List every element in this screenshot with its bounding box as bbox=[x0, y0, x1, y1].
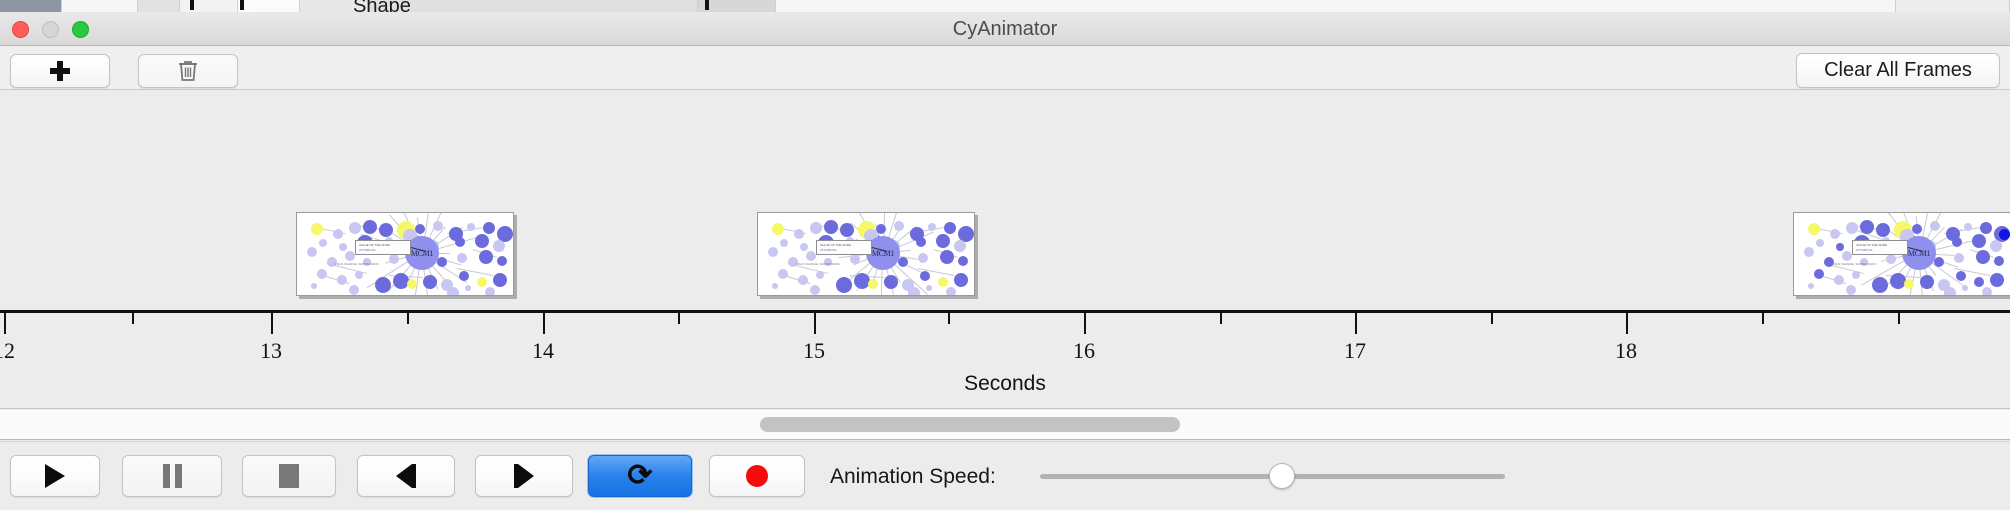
axis-tick bbox=[1220, 313, 1222, 324]
timeline-scrollbar-thumb[interactable] bbox=[760, 417, 1180, 432]
clear-all-frames-label: Clear All Frames bbox=[1824, 59, 1972, 82]
graph-caption: FOLD CHANGE / EXPRESSION bbox=[335, 262, 379, 266]
pause-icon bbox=[163, 464, 182, 488]
axis-tick-label: 13 bbox=[260, 338, 282, 364]
graph-node bbox=[810, 222, 822, 234]
graph-node bbox=[339, 243, 347, 251]
graph-node bbox=[319, 239, 327, 247]
graph-tooltip: VALUE OF THE NODEATTRIBUTE bbox=[1852, 240, 1908, 255]
graph-node bbox=[389, 254, 399, 264]
axis-tick bbox=[271, 313, 273, 334]
axis-tick bbox=[4, 313, 6, 334]
graph-node bbox=[1990, 240, 2002, 252]
graph-node bbox=[1814, 269, 1824, 279]
graph-caption: FOLD CHANGE / EXPRESSION bbox=[1832, 262, 1876, 266]
graph-node bbox=[493, 273, 507, 287]
axis-title: Seconds bbox=[0, 372, 2010, 396]
graph-node bbox=[944, 222, 956, 234]
graph-node bbox=[824, 220, 838, 234]
graph-tooltip-line-2: ATTRIBUTE bbox=[820, 248, 868, 253]
graph-node bbox=[1962, 285, 1968, 291]
previous-frame-button[interactable] bbox=[357, 455, 455, 497]
timeline-scrollbar[interactable] bbox=[0, 410, 2010, 440]
delete-frame-button[interactable] bbox=[138, 54, 238, 88]
loop-icon: ⟳ bbox=[627, 461, 652, 491]
axis-tick-label: 12 bbox=[0, 338, 15, 364]
clear-all-frames-button[interactable]: Clear All Frames bbox=[1796, 53, 2000, 88]
graph-node bbox=[1956, 271, 1966, 281]
graph-node bbox=[465, 285, 471, 291]
graph-node bbox=[1999, 229, 2010, 240]
graph-node bbox=[485, 287, 495, 296]
graph-node bbox=[798, 275, 808, 285]
graph-node bbox=[1846, 285, 1856, 295]
graph-node bbox=[1852, 271, 1860, 279]
graph-node bbox=[1804, 247, 1814, 257]
graph-node bbox=[940, 250, 954, 264]
axis-tick-label: 16 bbox=[1073, 338, 1095, 364]
add-frame-button[interactable] bbox=[10, 54, 110, 88]
graph-node bbox=[363, 220, 377, 234]
graph-node bbox=[1972, 234, 1986, 248]
graph-node bbox=[816, 271, 824, 279]
graph-node bbox=[497, 256, 507, 266]
timeline-panel[interactable]: MCM1VALUE OF THE NODEATTRIBUTEFOLD CHANG… bbox=[0, 90, 2010, 409]
graph-node bbox=[1808, 223, 1820, 235]
graph-node bbox=[908, 287, 920, 296]
graph-node bbox=[840, 223, 854, 237]
graph-node bbox=[1846, 222, 1858, 234]
graph-node bbox=[894, 221, 904, 231]
cyanimator-window: Shape CyAnimator Clear All Frames MC bbox=[0, 0, 2010, 510]
graph-node bbox=[946, 287, 956, 296]
axis-tick bbox=[1762, 313, 1764, 324]
axis-line bbox=[0, 310, 2010, 313]
graph-node bbox=[794, 229, 804, 239]
graph-node bbox=[1982, 287, 1992, 296]
graph-node bbox=[954, 240, 966, 252]
graph-node bbox=[433, 221, 443, 231]
graph-node bbox=[920, 271, 930, 281]
graph-node bbox=[800, 243, 808, 251]
graph-tooltip-line-2: ATTRIBUTE bbox=[359, 248, 407, 253]
graph-node bbox=[1830, 229, 1840, 239]
graph-node bbox=[926, 285, 932, 291]
window-title: CyAnimator bbox=[0, 12, 2010, 46]
play-icon bbox=[45, 464, 65, 488]
graph-node bbox=[780, 239, 788, 247]
graph-node bbox=[916, 237, 926, 247]
animation-speed-slider[interactable] bbox=[1040, 474, 1505, 479]
graph-node bbox=[898, 257, 908, 267]
graph-node bbox=[928, 223, 936, 231]
graph-node bbox=[479, 250, 493, 264]
graph-node bbox=[375, 277, 391, 293]
graph-node bbox=[333, 229, 343, 239]
graph-node bbox=[337, 275, 347, 285]
graph-node bbox=[1980, 222, 1992, 234]
axis-tick bbox=[1898, 313, 1900, 324]
graph-node bbox=[311, 283, 317, 289]
graph-node bbox=[457, 253, 467, 263]
graph-node bbox=[1976, 250, 1990, 264]
graph-node bbox=[1808, 283, 1814, 289]
graph-node bbox=[954, 273, 968, 287]
graph-node bbox=[477, 277, 487, 287]
graph-node bbox=[772, 283, 778, 289]
titlebar: CyAnimator bbox=[0, 12, 2010, 46]
skip-back-icon bbox=[396, 464, 416, 488]
stop-button[interactable] bbox=[242, 455, 336, 497]
graph-node bbox=[455, 237, 465, 247]
background-window-strip: Shape bbox=[0, 0, 2010, 12]
graph-node bbox=[1954, 253, 1964, 263]
frame-thumbnail[interactable]: MCM1VALUE OF THE NODEATTRIBUTEFOLD CHANG… bbox=[296, 212, 514, 296]
graph-node bbox=[1876, 223, 1890, 237]
graph-node bbox=[938, 277, 948, 287]
graph-node bbox=[459, 271, 469, 281]
axis-tick bbox=[814, 313, 816, 334]
graph-node bbox=[1816, 239, 1824, 247]
graph-node bbox=[1904, 279, 1914, 289]
axis-tick bbox=[132, 313, 134, 324]
graph-node bbox=[1842, 251, 1852, 261]
graph-node bbox=[407, 279, 417, 289]
graph-node bbox=[768, 247, 778, 257]
record-icon bbox=[746, 465, 768, 487]
graph-tooltip: VALUE OF THE NODEATTRIBUTE bbox=[816, 240, 872, 255]
graph-node bbox=[958, 256, 968, 266]
skip-forward-icon bbox=[514, 464, 534, 488]
graph-node bbox=[1952, 237, 1962, 247]
network-graph-preview: MCM1VALUE OF THE NODEATTRIBUTEFOLD CHANG… bbox=[1794, 213, 2010, 295]
graph-node bbox=[493, 240, 505, 252]
graph-node bbox=[806, 251, 816, 261]
timeline-axis: 12131415161718 Seconds bbox=[0, 310, 2010, 409]
play-button[interactable] bbox=[10, 455, 100, 497]
frames-track[interactable]: MCM1VALUE OF THE NODEATTRIBUTEFOLD CHANG… bbox=[0, 90, 2010, 310]
graph-node bbox=[423, 275, 437, 289]
plus-icon bbox=[49, 60, 71, 82]
graph-node bbox=[918, 253, 928, 263]
graph-node bbox=[467, 223, 475, 231]
pause-button[interactable] bbox=[122, 455, 222, 497]
stop-icon bbox=[279, 464, 299, 488]
graph-node bbox=[483, 222, 495, 234]
graph-node bbox=[1964, 223, 1972, 231]
frame-thumbnail[interactable]: MCM1VALUE OF THE NODEATTRIBUTEFOLD CHANG… bbox=[1793, 212, 2010, 296]
graph-node bbox=[850, 254, 860, 264]
loop-button[interactable]: ⟳ bbox=[588, 455, 692, 497]
graph-node bbox=[1974, 277, 1984, 287]
graph-node bbox=[1920, 275, 1934, 289]
toolbar: Clear All Frames bbox=[0, 46, 2010, 90]
axis-tick bbox=[543, 313, 545, 334]
axis-tick bbox=[1491, 313, 1493, 324]
graph-node bbox=[1872, 277, 1888, 293]
network-graph-preview: MCM1VALUE OF THE NODEATTRIBUTEFOLD CHANG… bbox=[758, 213, 974, 295]
network-graph-preview: MCM1VALUE OF THE NODEATTRIBUTEFOLD CHANG… bbox=[297, 213, 513, 295]
graph-node bbox=[311, 223, 323, 235]
graph-tooltip-line-2: ATTRIBUTE bbox=[1856, 248, 1904, 253]
graph-node bbox=[1990, 273, 2004, 287]
animation-speed-label: Animation Speed: bbox=[830, 465, 996, 489]
graph-node bbox=[307, 247, 317, 257]
graph-node bbox=[437, 257, 447, 267]
graph-node bbox=[379, 223, 393, 237]
graph-node bbox=[475, 234, 489, 248]
axis-tick bbox=[407, 313, 409, 324]
graph-node bbox=[836, 277, 852, 293]
graph-node bbox=[349, 285, 359, 295]
graph-caption: FOLD CHANGE / EXPRESSION bbox=[796, 262, 840, 266]
axis-tick bbox=[1084, 313, 1086, 334]
background-window-label: Shape bbox=[353, 0, 411, 12]
record-button[interactable] bbox=[709, 455, 805, 497]
axis-tick bbox=[1626, 313, 1628, 334]
graph-node bbox=[1934, 257, 1944, 267]
graph-node bbox=[345, 251, 355, 261]
axis-tick bbox=[678, 313, 680, 324]
animation-speed-slider-thumb[interactable] bbox=[1269, 463, 1295, 489]
graph-node bbox=[1886, 254, 1896, 264]
graph-node bbox=[355, 271, 363, 279]
axis-tick-label: 14 bbox=[532, 338, 554, 364]
graph-node bbox=[868, 279, 878, 289]
graph-tooltip: VALUE OF THE NODEATTRIBUTE bbox=[355, 240, 411, 255]
graph-node bbox=[1836, 243, 1844, 251]
axis-tick-label: 17 bbox=[1344, 338, 1366, 364]
graph-node bbox=[1944, 287, 1956, 296]
axis-tick bbox=[948, 313, 950, 324]
axis-tick-label: 18 bbox=[1615, 338, 1637, 364]
graph-node bbox=[349, 222, 361, 234]
graph-node bbox=[936, 234, 950, 248]
graph-node bbox=[772, 223, 784, 235]
graph-node bbox=[884, 275, 898, 289]
axis-tick-label: 15 bbox=[803, 338, 825, 364]
graph-node bbox=[778, 269, 788, 279]
graph-node bbox=[317, 269, 327, 279]
graph-node bbox=[810, 285, 820, 295]
graph-node bbox=[1834, 275, 1844, 285]
frame-thumbnail[interactable]: MCM1VALUE OF THE NODEATTRIBUTEFOLD CHANG… bbox=[757, 212, 975, 296]
playback-bar: ⟳ Animation Speed: bbox=[0, 441, 2010, 510]
graph-node bbox=[447, 287, 459, 296]
graph-node bbox=[1930, 221, 1940, 231]
axis-tick bbox=[1355, 313, 1357, 334]
next-frame-button[interactable] bbox=[475, 455, 573, 497]
trash-icon bbox=[177, 59, 199, 83]
graph-node bbox=[1994, 256, 2004, 266]
graph-node bbox=[1860, 220, 1874, 234]
